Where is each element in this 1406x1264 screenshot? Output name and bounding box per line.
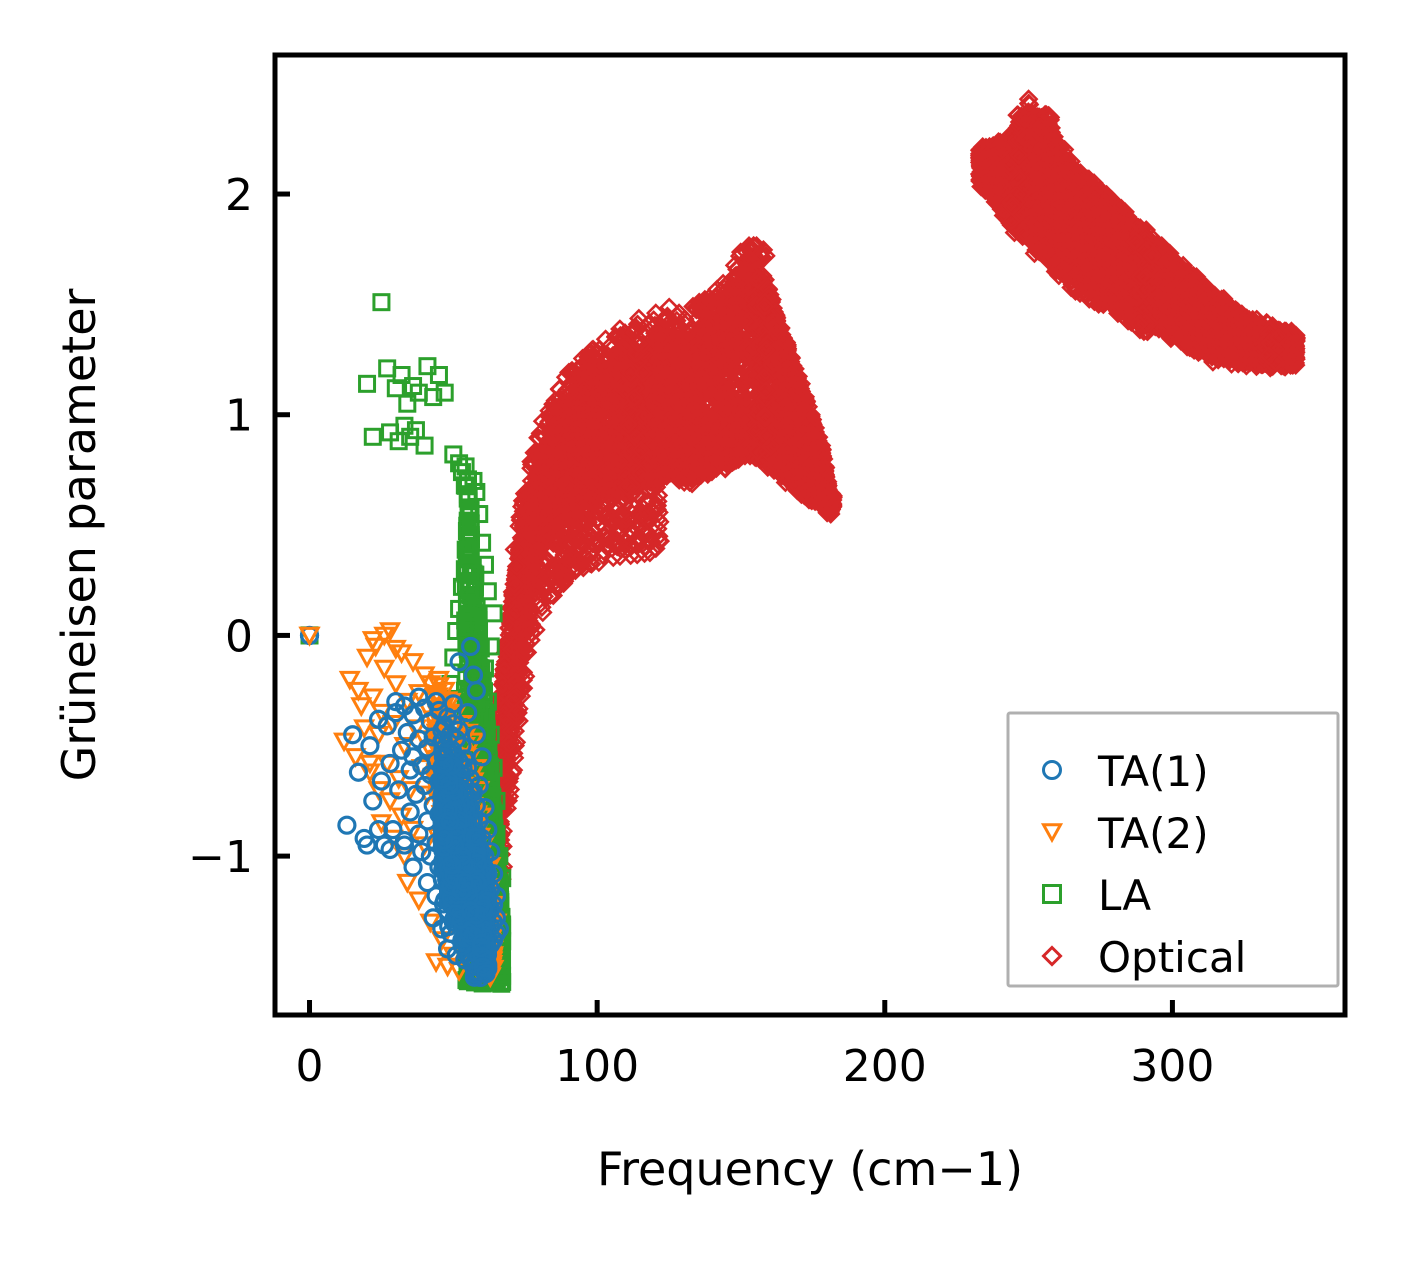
y-axis-label: Grüneisen parameter xyxy=(52,288,106,781)
x-axis-label: Frequency (cm−1) xyxy=(597,1142,1023,1196)
x-tick-labels: 0100200300 xyxy=(296,1041,1215,1092)
figure-canvas: 0100200300 −1012 Frequency (cm−1) Grünei… xyxy=(0,0,1406,1264)
legend-label-ta2[interactable]: TA(2) xyxy=(1097,809,1209,858)
legend-label-optical[interactable]: Optical xyxy=(1098,933,1246,982)
scatter-plot: 0100200300 −1012 Frequency (cm−1) Grünei… xyxy=(0,0,1406,1264)
y-tick-label: −1 xyxy=(188,832,253,883)
x-tick-label: 200 xyxy=(843,1041,927,1092)
x-tick-label: 0 xyxy=(296,1041,324,1092)
y-tick-label: 2 xyxy=(225,170,253,221)
y-tick-label: 1 xyxy=(225,391,253,442)
legend-label-ta1[interactable]: TA(1) xyxy=(1097,747,1209,796)
legend[interactable]: TA(1)TA(2)LAOptical xyxy=(1008,713,1338,986)
x-tick-label: 300 xyxy=(1130,1041,1214,1092)
y-tick-label: 0 xyxy=(225,611,253,662)
y-tick-labels: −1012 xyxy=(188,170,253,883)
legend-label-la[interactable]: LA xyxy=(1098,871,1151,920)
x-tick-label: 100 xyxy=(555,1041,639,1092)
